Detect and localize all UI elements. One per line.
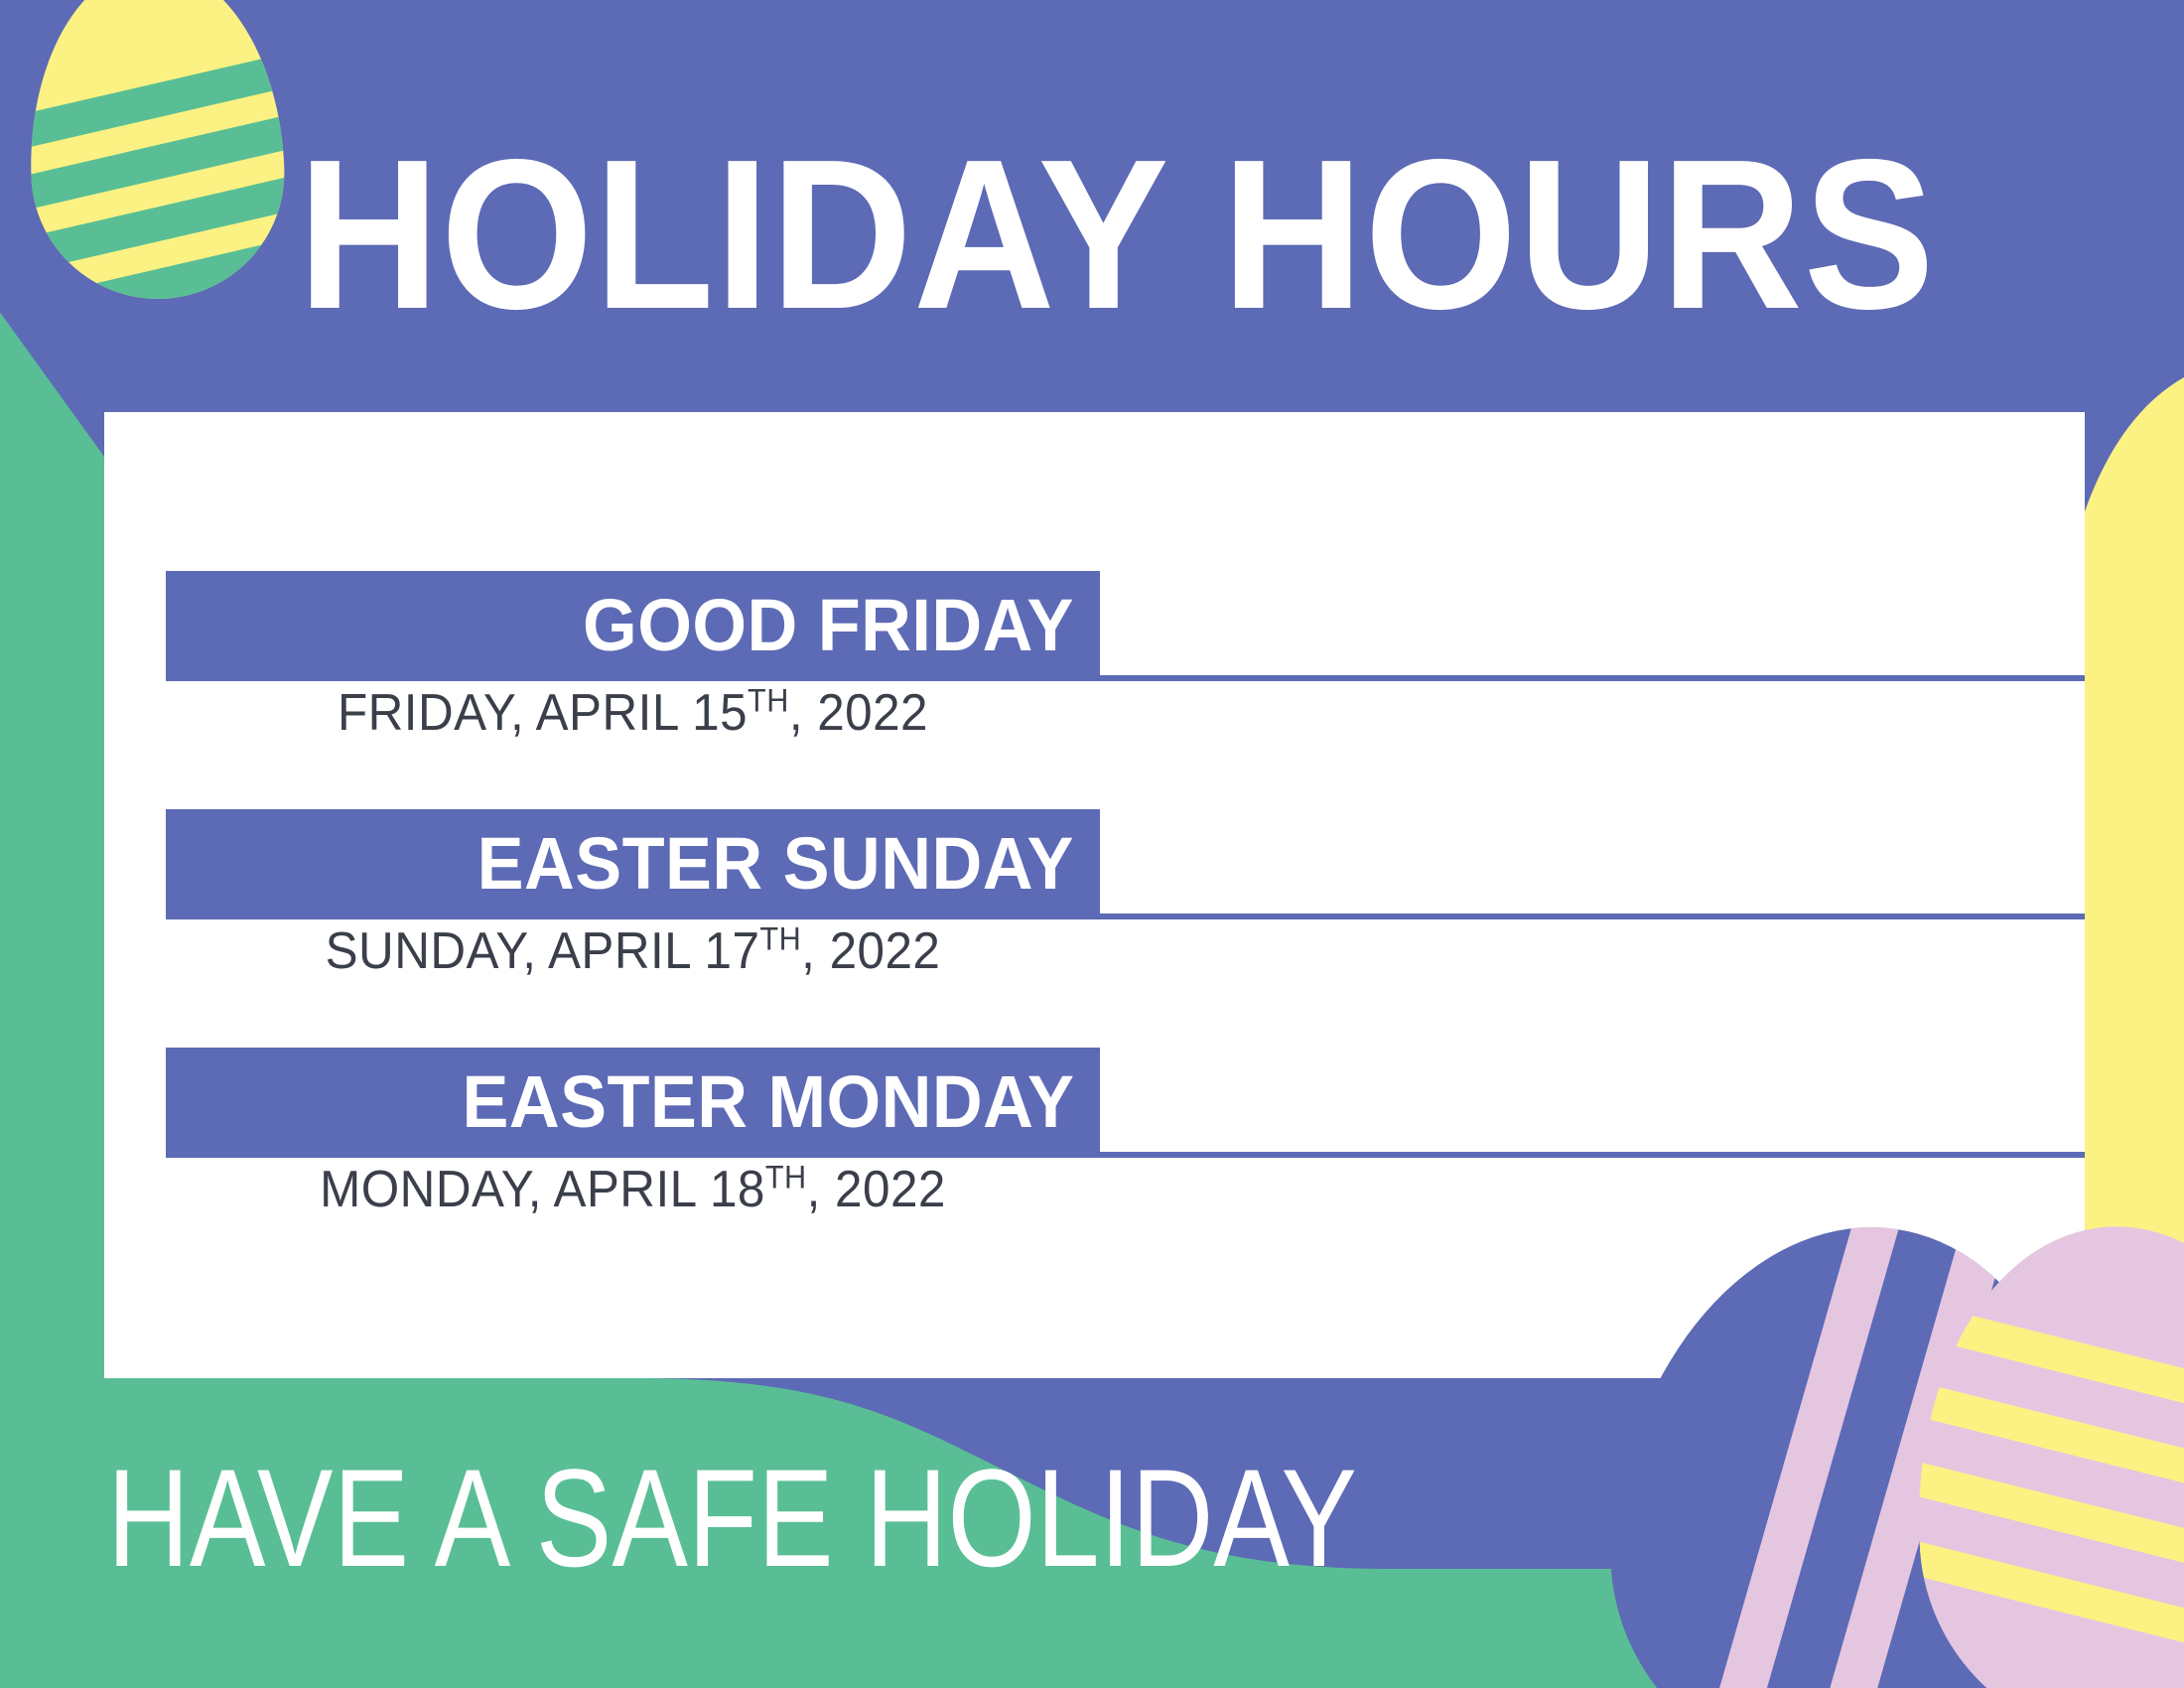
holiday-date-day: FRIDAY, APRIL 15 <box>338 684 748 742</box>
holiday-name-label: GOOD FRIDAY <box>583 582 1074 666</box>
holiday-name-bar: EASTER MONDAY <box>166 1048 1100 1158</box>
holiday-date-label: SUNDAY, APRIL 17TH, 2022 <box>190 921 1077 981</box>
holiday-date-ordinal: TH <box>748 683 789 719</box>
egg-shell <box>1898 1212 2184 1688</box>
schedule-row: GOOD FRIDAY FRIDAY, APRIL 15TH, 2022 <box>166 571 2085 681</box>
egg-shell <box>24 0 289 303</box>
schedule-row: EASTER MONDAY MONDAY, APRIL 18TH, 2022 <box>166 1048 2085 1158</box>
easter-egg-pink-icon <box>1916 1226 2184 1688</box>
hours-write-in-rule[interactable] <box>1100 675 2085 681</box>
schedule-row: EASTER SUNDAY SUNDAY, APRIL 17TH, 2022 <box>166 809 2085 919</box>
holiday-name-label: EASTER SUNDAY <box>478 820 1074 905</box>
hours-write-in-rule[interactable] <box>1100 1152 2085 1158</box>
holiday-date-ordinal: TH <box>759 921 801 957</box>
holiday-date-year: , 2022 <box>801 922 940 980</box>
hours-write-in-rule[interactable] <box>1100 914 2085 919</box>
holiday-hours-poster: HOLIDAY HOURS GOOD FRIDAY FRIDAY, APRIL … <box>0 0 2184 1688</box>
holiday-name-bar: EASTER SUNDAY <box>166 809 1100 919</box>
holiday-date-ordinal: TH <box>765 1160 807 1196</box>
holiday-name-bar: GOOD FRIDAY <box>166 571 1100 681</box>
footer-message: HAVE A SAFE HOLIDAY <box>107 1438 1357 1599</box>
holiday-name-label: EASTER MONDAY <box>462 1058 1074 1143</box>
holiday-date-year: , 2022 <box>807 1161 946 1218</box>
holiday-date-day: MONDAY, APRIL 18 <box>320 1161 765 1218</box>
holiday-date-day: SUNDAY, APRIL 17 <box>326 922 760 980</box>
page-title: HOLIDAY HOURS <box>298 127 1814 341</box>
holiday-date-year: , 2022 <box>789 684 928 742</box>
holiday-date-label: FRIDAY, APRIL 15TH, 2022 <box>190 683 1077 743</box>
holiday-date-label: MONDAY, APRIL 18TH, 2022 <box>190 1160 1077 1219</box>
easter-egg-yellow-icon <box>30 0 283 299</box>
